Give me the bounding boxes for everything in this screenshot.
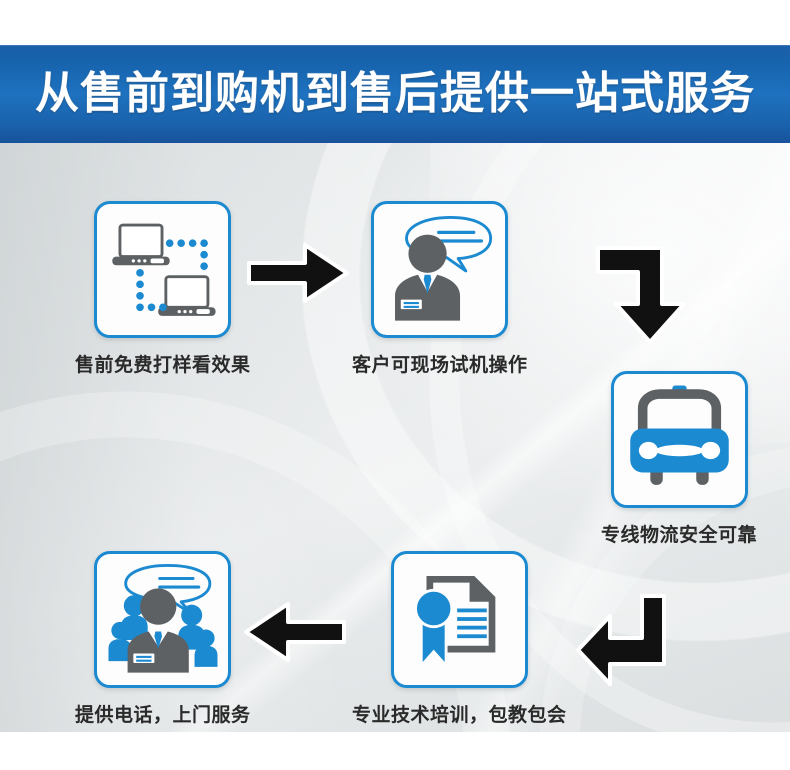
step-caption: 客户可现场试机操作 [352,350,528,377]
team-support-icon [97,554,228,685]
step-icon-tile [611,371,748,508]
arrow-down-left-icon [572,590,692,690]
step-icon-tile [371,201,508,338]
arrow-right-down-icon [592,238,712,348]
step-after-sale-service[interactable]: 提供电话，上门服务 [75,551,251,727]
step-onsite-trial[interactable]: 客户可现场试机操作 [352,201,528,377]
step-icon-tile [94,551,231,688]
page-title: 从售前到购机到售后提供一站式服务 [35,72,755,116]
step-icon-tile [94,201,231,338]
step-training[interactable]: 专业技术培训，包教包会 [352,551,567,727]
top-white-strip [0,0,790,45]
header-banner: 从售前到购机到售后提供一站式服务 [0,45,790,143]
person-speech-icon [374,204,505,335]
arrow-right-icon [243,233,353,313]
car-transport-icon [614,374,745,505]
step-icon-tile [391,551,528,688]
step-caption: 专业技术培训，包教包会 [352,700,567,727]
laptops-network-icon [97,204,228,335]
certificate-icon [394,554,525,685]
arrow-left-icon [240,592,350,672]
step-caption: 售前免费打样看效果 [75,350,251,377]
service-flow-infographic: 从售前到购机到售后提供一站式服务 [0,0,790,770]
step-caption: 提供电话，上门服务 [75,700,251,727]
step-logistics[interactable]: 专线物流安全可靠 [601,371,757,547]
step-pre-sale-sample[interactable]: 售前免费打样看效果 [75,201,251,377]
bottom-white-strip [0,732,790,770]
step-caption: 专线物流安全可靠 [601,520,757,547]
